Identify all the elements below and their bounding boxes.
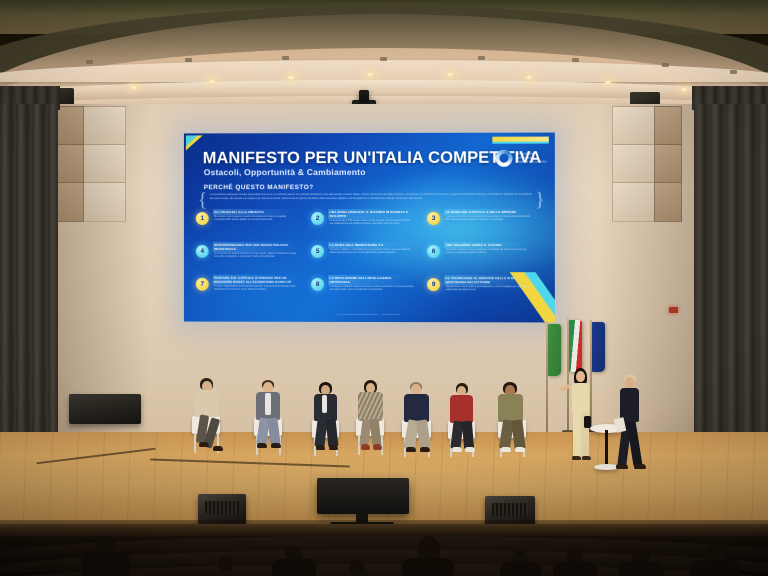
item-body: L'intelligenza artificiale trasforma pro… <box>328 286 414 292</box>
organization-logo: FONDAZIONE NAZIONALE RICERCA E SVILUPPO <box>495 150 547 167</box>
ceiling-fixture <box>730 70 737 74</box>
ceiling-fixture <box>282 56 289 60</box>
item-number-badge: 7 <box>196 278 209 291</box>
panelist-patterned-dress <box>352 380 396 474</box>
item-number-badge: 3 <box>427 212 440 225</box>
confidence-monitor <box>317 478 409 514</box>
shirt <box>265 393 271 415</box>
audience-member <box>350 560 365 575</box>
item-body: È necessaria una politica industriale di… <box>212 253 297 259</box>
item-body: Digitalizzazione della pubblica amminist… <box>444 287 531 293</box>
torso <box>572 383 589 413</box>
projection-screen: MANIFESTO PER UN'ITALIA COMPETITIVA Osta… <box>184 133 555 323</box>
panelist-navy-blazer <box>398 382 444 474</box>
side-table-leg <box>605 430 608 468</box>
item-heading: PUNTARE SUL CAPITALE DI RISCHIO PER UN M… <box>212 275 297 285</box>
curtain-right <box>694 104 768 464</box>
downlight <box>130 85 138 90</box>
audience-member <box>553 562 597 576</box>
ceiling-fixture <box>380 57 387 61</box>
manifesto-item: 3 LE SFIDE DEL CAPITALE E DELLE IMPRESE … <box>427 209 530 225</box>
manifesto-item: 4 INTRAPRENDENZA PER UNA NUOVA POLITICA … <box>196 242 298 260</box>
item-number-badge: 6 <box>427 245 440 258</box>
manifesto-item: 8 LA RIVOLUZIONE DELL'INTELLIGENZA ARTIF… <box>311 275 413 293</box>
audience-member <box>690 560 740 576</box>
ceiling-fixture <box>662 63 669 67</box>
item-heading: GLI OSTACOLI ALLA CRESCITA <box>212 209 297 215</box>
section-heading: PERCHÉ QUESTO MANIFESTO? <box>204 184 314 191</box>
item-heading: UNA SFIDA URGENTE: IL RITARDO IN RICERCA… <box>328 209 414 219</box>
ceiling-fixture <box>478 56 485 60</box>
hanging-speaker-center-top <box>359 90 369 102</box>
panelist-beige-jacket <box>188 378 232 470</box>
brace-right-icon: } <box>535 190 545 210</box>
slide-subtitle: Ostacoli, Opportunità & Cambiamento <box>204 167 366 177</box>
item-body: Gli investimenti in R&S restano sotto la… <box>328 220 414 226</box>
downlight <box>446 72 454 77</box>
item-body: Formazione continua, nuove competenze e … <box>444 249 531 255</box>
audience-member <box>706 542 725 562</box>
manifesto-item: 5 LA SFIDA DELL'INNOVAZIONE 5.0 Transizi… <box>311 242 413 258</box>
logo-line-2: NAZIONALE <box>515 157 547 160</box>
panelist-red-blazer <box>444 383 486 475</box>
manifesto-item: 1 GLI OSTACOLI ALLA CRESCITA Burocrazia,… <box>196 209 298 225</box>
torso <box>404 394 429 422</box>
top-bar-cyan <box>492 142 548 144</box>
audience-member <box>218 556 233 571</box>
item-body: L'accesso al credito e la sottocapitaliz… <box>444 216 531 222</box>
item-heading: LA RIVOLUZIONE DELL'INTELLIGENZA ARTIFIC… <box>328 275 414 285</box>
item-number-badge: 1 <box>196 212 209 225</box>
audience-member <box>82 553 130 576</box>
torso <box>195 390 219 417</box>
regional-flag <box>548 324 561 376</box>
eu-flag <box>592 322 605 372</box>
downlight <box>208 79 216 84</box>
downlight <box>366 72 374 77</box>
intro-paragraph: La Fondazione Nazionale Giovani Imprendi… <box>210 193 532 200</box>
swirl-logo-icon <box>495 150 512 167</box>
item-heading: LE SFIDE DEL CAPITALE E DELLE IMPRESE <box>444 209 531 215</box>
walking-man-dark-suit <box>614 374 648 486</box>
manifesto-item-grid: 1 GLI OSTACOLI ALLA CRESCITA Burocrazia,… <box>196 209 544 305</box>
audience-member <box>272 559 316 576</box>
downlight <box>604 80 612 85</box>
italian-flag <box>569 320 582 372</box>
flight-case-left <box>69 394 141 424</box>
item-heading: LE TECNOLOGIE AL SERVIZIO DELLA VITA QUO… <box>444 275 531 285</box>
item-heading: UNO SGUARDO VERSO IL FUTURO <box>444 242 531 248</box>
manifesto-item: 7 PUNTARE SUL CAPITALE DI RISCHIO PER UN… <box>196 275 298 293</box>
ceiling-fixture <box>86 60 93 64</box>
item-number-badge: 2 <box>311 212 324 225</box>
torso <box>498 394 523 422</box>
panelist-dark-suit <box>308 382 350 472</box>
curtain-left <box>0 104 58 464</box>
logo-line-3: RICERCA E SVILUPPO <box>515 160 547 163</box>
downlight <box>680 87 688 92</box>
audience-member <box>500 562 542 576</box>
item-number-badge: 5 <box>311 245 324 258</box>
torso <box>358 392 383 421</box>
audience-member <box>618 562 664 576</box>
logo-line-1: FONDAZIONE <box>515 153 547 156</box>
manifesto-item: 6 UNO SGUARDO VERSO IL FUTURO Formazione… <box>427 242 530 258</box>
item-heading: LA SFIDA DELL'INNOVAZIONE 5.0 <box>328 242 414 248</box>
panelist-olive-jacket <box>492 382 538 476</box>
torso <box>450 395 473 423</box>
leg <box>573 412 581 458</box>
item-body: Transizione digitale e sostenibilità dev… <box>328 249 414 255</box>
item-number-badge: 4 <box>196 245 209 258</box>
item-number-badge: 9 <box>427 278 440 291</box>
slide-title: MANIFESTO PER UN'ITALIA COMPETITIVA <box>203 149 542 169</box>
handbag <box>584 416 591 428</box>
downlight <box>525 75 533 80</box>
ceiling-fixture <box>185 58 192 62</box>
manifesto-item: 2 UNA SFIDA URGENTE: IL RITARDO IN RICER… <box>311 209 413 227</box>
head <box>625 377 634 388</box>
head <box>576 371 585 382</box>
auditorium-scene: MANIFESTO PER UN'ITALIA COMPETITIVA Osta… <box>0 0 768 576</box>
manifesto-item: 9 LE TECNOLOGIE AL SERVIZIO DELLA VITA Q… <box>427 275 530 293</box>
downlight <box>287 75 295 80</box>
audience-foreground <box>0 520 768 576</box>
item-number-badge: 8 <box>311 278 324 291</box>
shirt <box>322 395 327 413</box>
corner-accent-cyan-icon <box>186 135 198 146</box>
moderator-cream-suit <box>566 368 596 476</box>
brace-left-icon: { <box>198 190 208 210</box>
panelist-grey-blazer <box>250 380 294 472</box>
item-body: Il venture capital italiano resta sottod… <box>212 286 297 292</box>
item-body: Burocrazia, costi energetici e carenza d… <box>212 216 297 222</box>
item-heading: INTRAPRENDENZA PER UNA NUOVA POLITICA IN… <box>212 242 297 252</box>
ceiling-fixture <box>572 58 579 62</box>
audience-member <box>402 558 454 576</box>
